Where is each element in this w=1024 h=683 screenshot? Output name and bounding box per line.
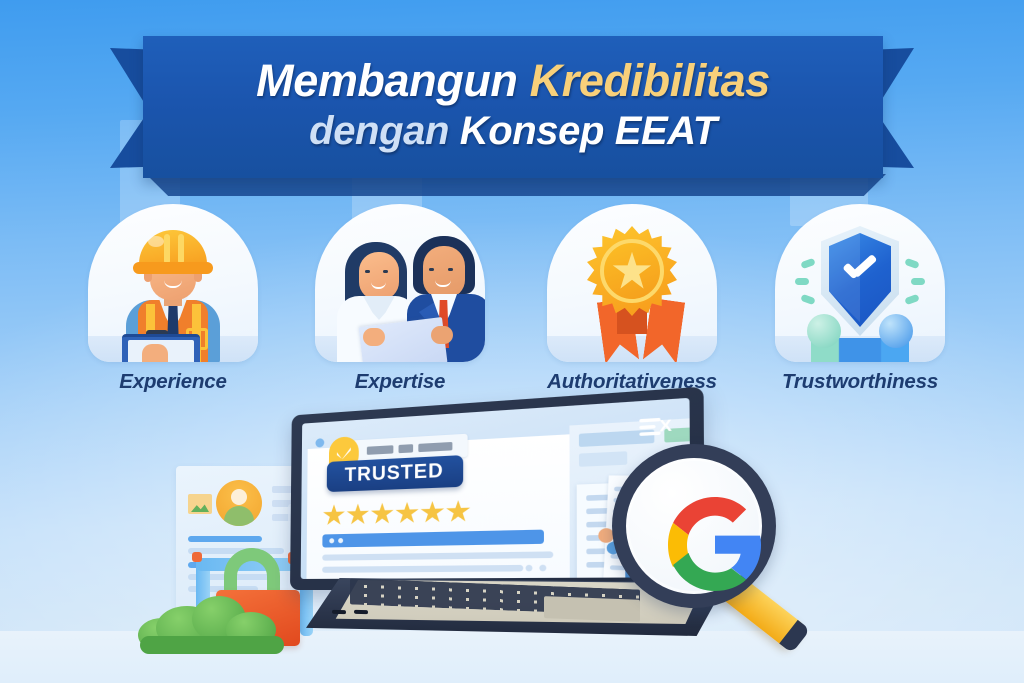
person-avatar-green (807, 314, 841, 348)
eeat-pillar-row: Experience (0, 200, 1024, 408)
bush-base (140, 636, 284, 654)
medallion-expertise (315, 204, 485, 362)
laptop-port (332, 610, 346, 614)
star-icon (446, 499, 471, 523)
page-dot-icon (315, 438, 324, 447)
banner-subtitle-dengan: dengan (309, 109, 449, 153)
medallion-experience (88, 204, 258, 362)
pillar-expertise: Expertise (305, 200, 495, 408)
pipe-cap (192, 552, 202, 562)
title-banner: Membangun Kredibilitas dengan Konsep EEA… (0, 28, 1024, 188)
google-logo-icon (668, 496, 762, 592)
close-icon-label: X (659, 417, 672, 436)
illustration-scene: TRUSTED (0, 408, 1024, 683)
star-icon (370, 502, 394, 525)
pillar-label-experience: Experience (60, 370, 286, 394)
shield-check-icon (775, 204, 945, 362)
medallion-trustworthiness (775, 204, 945, 362)
image-placeholder-icon (188, 494, 212, 514)
banner-title-line-2: dengan Konsep EEAT (309, 108, 717, 154)
award-rosette-icon (547, 204, 717, 362)
avatar (216, 480, 262, 526)
star-icon (395, 501, 419, 525)
star-icon (323, 504, 346, 527)
banner-title-line-1: Membangun Kredibilitas (256, 56, 770, 106)
two-professionals-icon (315, 204, 485, 362)
star-rating (323, 499, 471, 526)
banner-panel: Membangun Kredibilitas dengan Konsep EEA… (143, 36, 883, 178)
pillar-authoritativeness: Authoritativeness (537, 200, 727, 408)
star-icon (420, 500, 445, 524)
pillar-label-expertise: Expertise (287, 370, 513, 394)
trusted-badge: TRUSTED (327, 455, 463, 492)
infographic-canvas: Membangun Kredibilitas dengan Konsep EEA… (0, 0, 1024, 683)
magnifier-lens (612, 444, 776, 608)
person-avatar-blue (879, 314, 913, 348)
trusted-badge-label: TRUSTED (345, 460, 444, 487)
menu-close-icon[interactable]: X (639, 417, 672, 437)
banner-title-kredibilitas: Kredibilitas (530, 55, 770, 106)
hard-hat-worker-icon (88, 204, 258, 362)
laptop-port (354, 610, 368, 614)
magnifying-glass-icon (606, 440, 816, 650)
pillar-trustworthiness: Trustworthiness (765, 200, 955, 408)
star-icon (346, 503, 369, 526)
pillar-label-authoritativeness: Authoritativeness (519, 370, 745, 394)
banner-title-membangun: Membangun (256, 55, 517, 106)
pillar-experience: Experience (78, 200, 268, 408)
pillar-label-trustworthiness: Trustworthiness (747, 370, 973, 394)
check-mark-icon (841, 258, 879, 282)
banner-subtitle-konsep-eeat: Konsep EEAT (460, 109, 717, 153)
medallion-authoritativeness (547, 204, 717, 362)
content-block (463, 578, 492, 579)
